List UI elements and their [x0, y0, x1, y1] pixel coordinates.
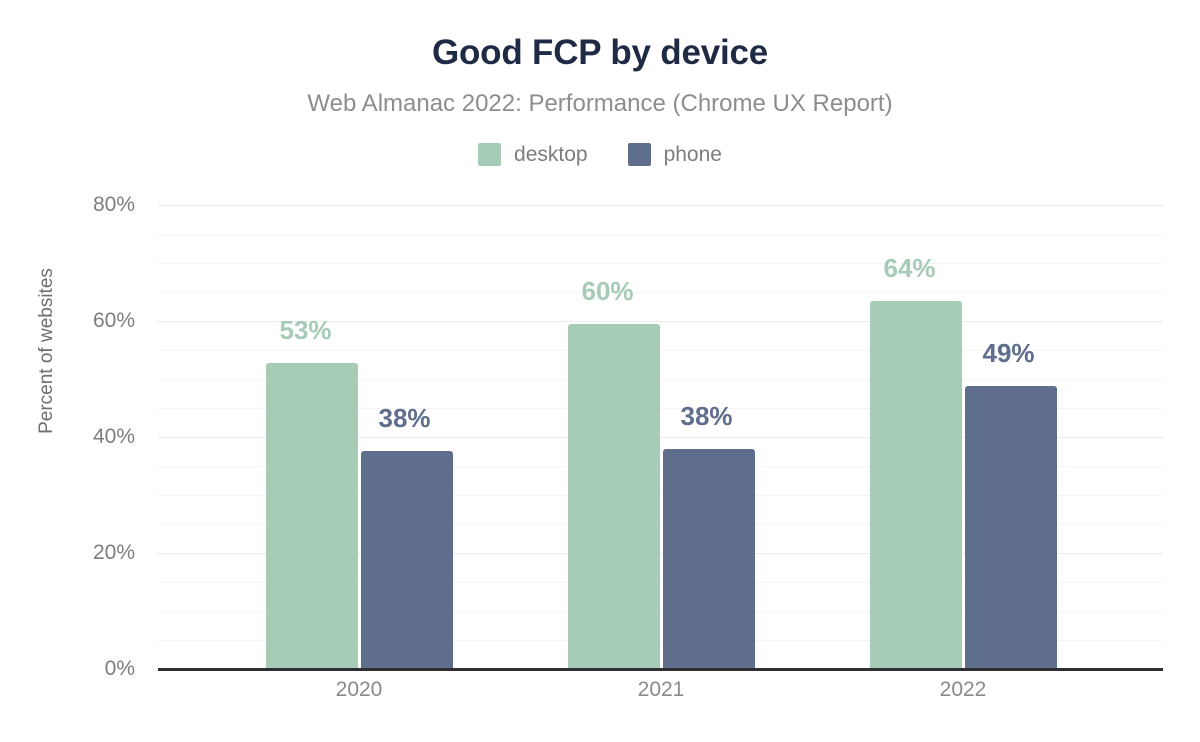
legend-item-desktop[interactable]: desktop: [478, 142, 588, 167]
legend-swatch-phone: [628, 143, 651, 166]
gridline-minor: [158, 234, 1163, 235]
y-tick-label: 80%: [0, 194, 135, 215]
bar-value-label-desktop-2021: 60%: [582, 276, 634, 306]
y-tick-label: 20%: [0, 542, 135, 563]
chart-subtitle: Web Almanac 2022: Performance (Chrome UX…: [0, 89, 1200, 119]
legend-label-phone: phone: [664, 142, 722, 167]
bar-desktop-2022[interactable]: [870, 301, 962, 669]
bar-value-label-phone-2021: 38%: [681, 401, 733, 431]
bar-phone-2020[interactable]: [361, 451, 453, 669]
y-tick-label: 60%: [0, 310, 135, 331]
gridline-major: [158, 205, 1163, 206]
legend-item-phone[interactable]: phone: [628, 142, 722, 167]
legend-swatch-desktop: [478, 143, 501, 166]
bar-value-label-phone-2022: 49%: [983, 338, 1035, 368]
bar-desktop-2020[interactable]: [266, 363, 358, 669]
bar-value-label-phone-2020: 38%: [379, 403, 431, 433]
x-axis-tick-labels: 202020212022: [158, 676, 1163, 716]
y-tick-label: 40%: [0, 426, 135, 447]
bar-phone-2021[interactable]: [663, 449, 755, 669]
x-tick-label: 2021: [561, 676, 761, 704]
x-tick-label: 2020: [259, 676, 459, 704]
y-axis-title: Percent of websites: [36, 221, 58, 481]
gridline-minor: [158, 263, 1163, 264]
x-axis-line: [158, 668, 1163, 671]
x-tick-label: 2022: [863, 676, 1063, 704]
chart-title: Good FCP by device: [0, 31, 1200, 75]
chart-legend: desktop phone: [0, 142, 1200, 167]
bar-value-label-desktop-2022: 64%: [884, 253, 936, 283]
bar-desktop-2021[interactable]: [568, 324, 660, 669]
gridline-minor: [158, 292, 1163, 293]
bar-value-label-desktop-2020: 53%: [280, 315, 332, 345]
legend-label-desktop: desktop: [514, 142, 588, 167]
bar-phone-2022[interactable]: [965, 386, 1057, 669]
plot-area: 53%38%60%38%64%49%: [158, 205, 1163, 669]
chart-container: Good FCP by device Web Almanac 2022: Per…: [0, 0, 1200, 742]
y-tick-label: 0%: [0, 658, 135, 679]
